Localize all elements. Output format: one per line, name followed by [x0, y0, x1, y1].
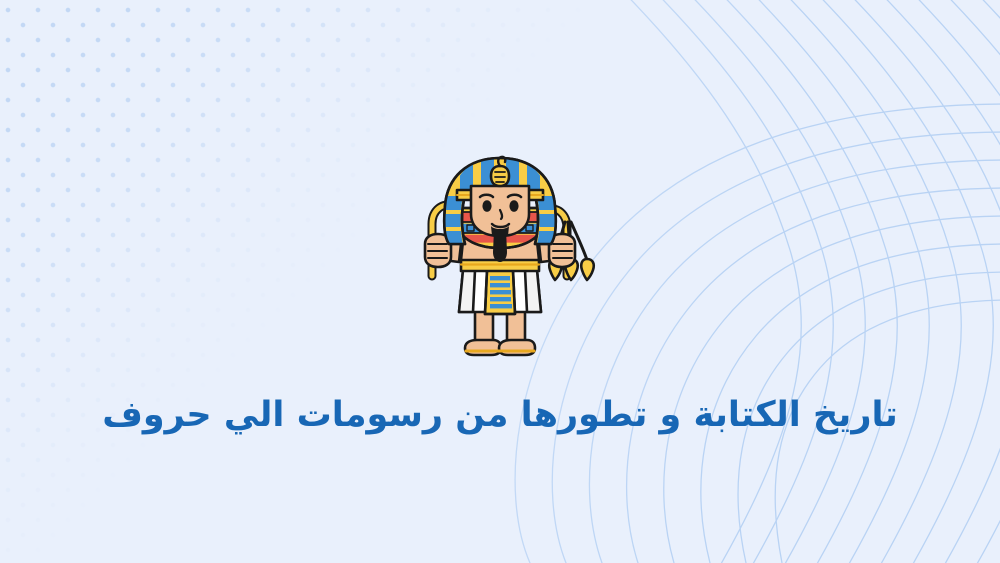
shendyt-kilt [459, 258, 541, 314]
title-container: تاريخ الكتابة و تطورها من رسومات الي حرو… [0, 392, 1000, 439]
sandals [465, 340, 535, 355]
pharaoh-character [395, 152, 605, 380]
slide-title: تاريخ الكتابة و تطورها من رسومات الي حرو… [102, 392, 898, 439]
title-slide: تاريخ الكتابة و تطورها من رسومات الي حرو… [0, 0, 1000, 563]
false-beard [491, 226, 509, 262]
